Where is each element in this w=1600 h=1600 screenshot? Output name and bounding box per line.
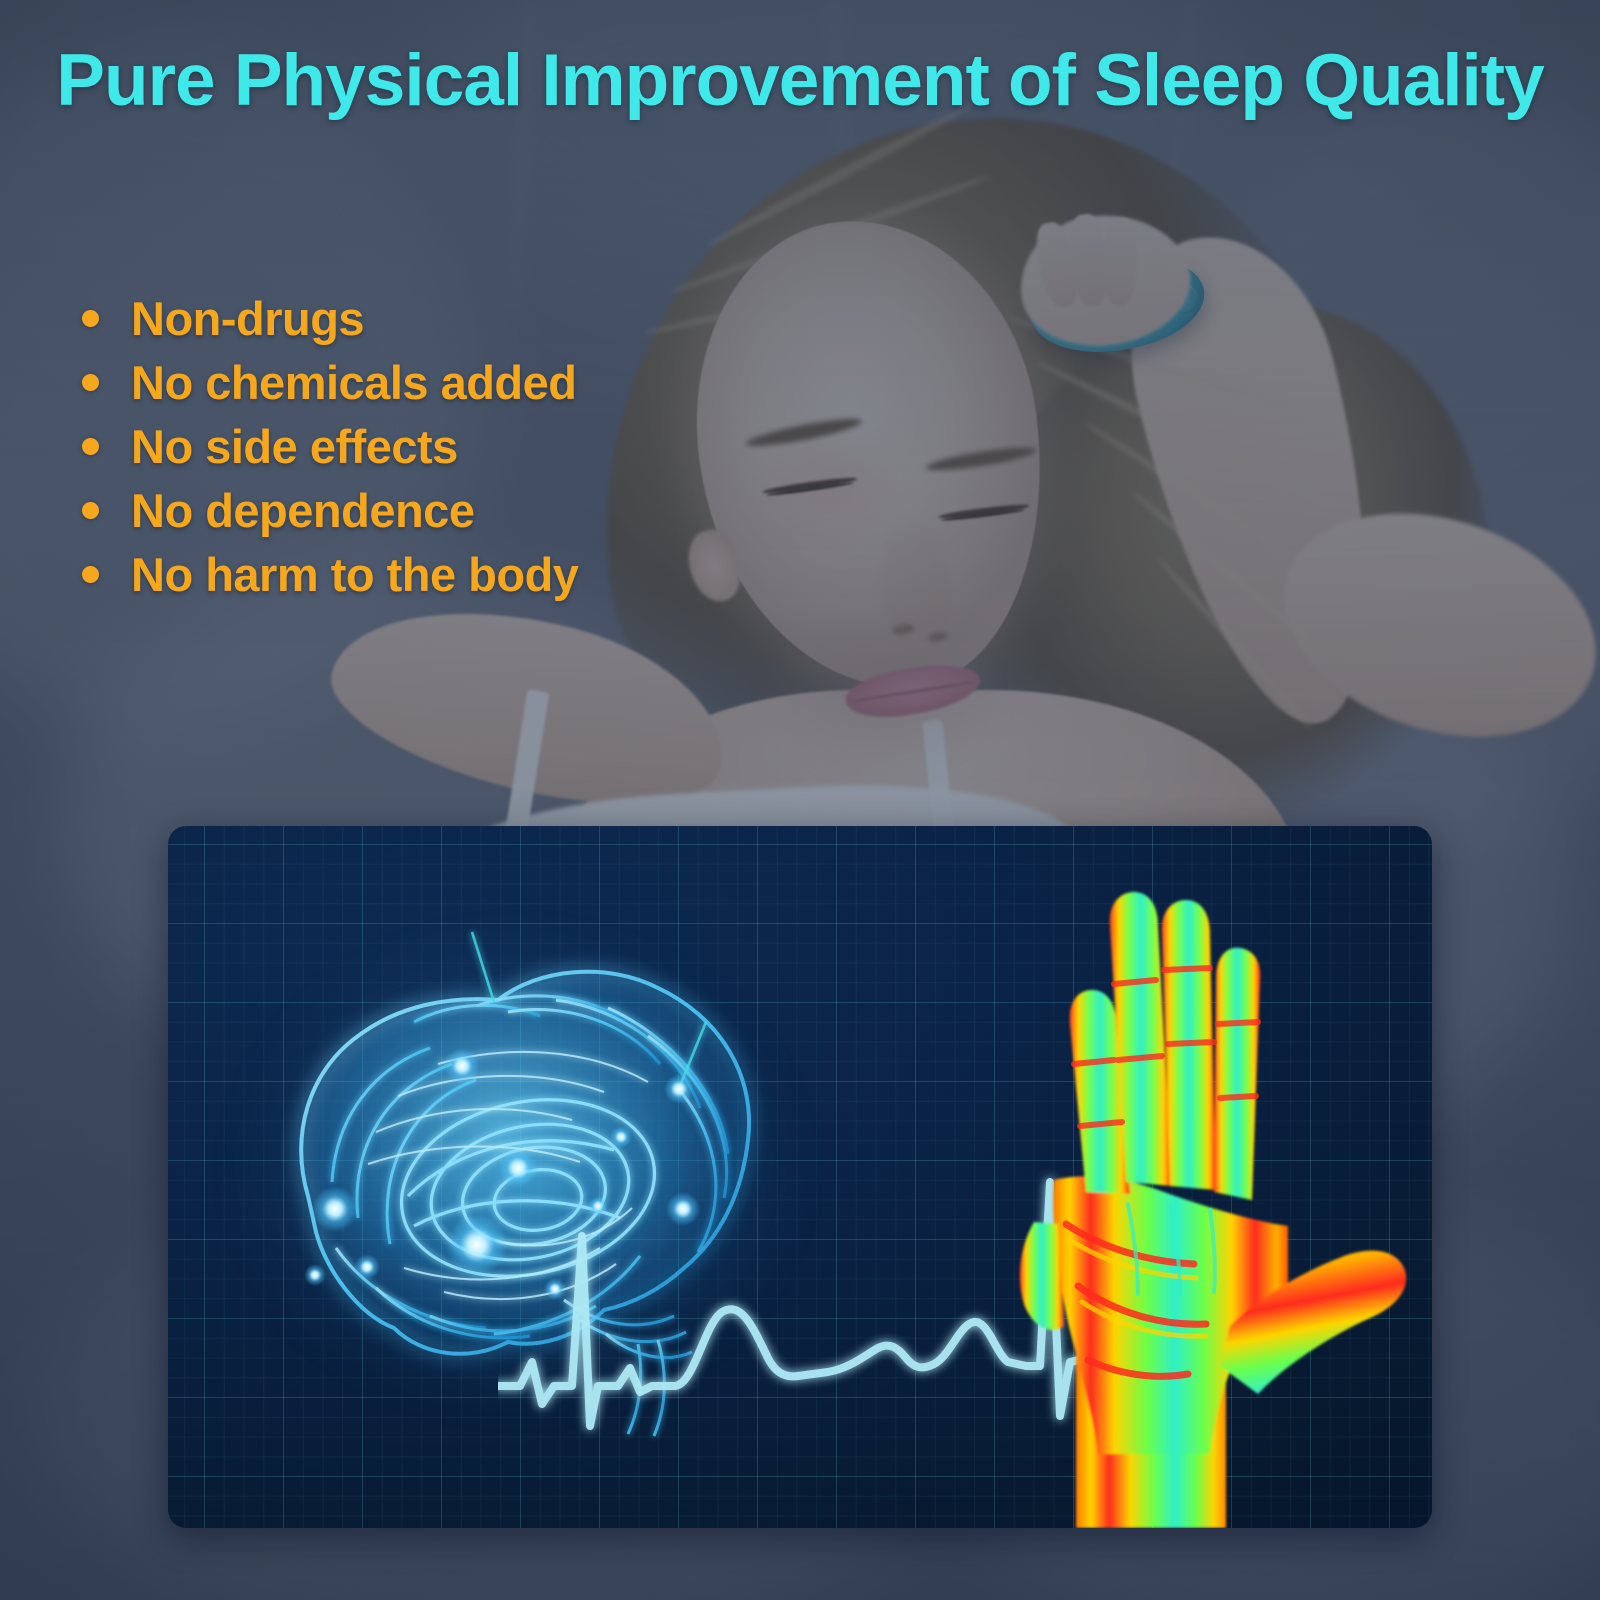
benefit-label: No dependence bbox=[131, 483, 474, 538]
bullet-dot-icon bbox=[82, 502, 99, 519]
benefit-label: Non-drugs bbox=[131, 291, 364, 346]
benefit-label: No chemicals added bbox=[131, 355, 577, 410]
brain-node bbox=[312, 1186, 358, 1232]
list-item: No harm to the body bbox=[82, 542, 782, 606]
brain-node bbox=[354, 1254, 380, 1280]
bullet-dot-icon bbox=[82, 566, 99, 583]
benefits-list: Non-drugs No chemicals added No side eff… bbox=[82, 286, 782, 606]
poster-root: Pure Physical Improvement of Sleep Quali… bbox=[0, 0, 1600, 1600]
list-item: No dependence bbox=[82, 478, 782, 542]
benefit-label: No harm to the body bbox=[131, 547, 578, 602]
bullet-dot-icon bbox=[82, 438, 99, 455]
list-item: No side effects bbox=[82, 414, 782, 478]
page-title: Pure Physical Improvement of Sleep Quali… bbox=[0, 44, 1600, 117]
brain-node bbox=[444, 1048, 480, 1084]
list-item: No chemicals added bbox=[82, 350, 782, 414]
brain-ecg-thermal-panel bbox=[168, 826, 1432, 1528]
bullet-dot-icon bbox=[82, 310, 99, 327]
thermal-hand-graphic bbox=[958, 874, 1418, 1528]
benefit-label: No side effects bbox=[131, 419, 458, 474]
brain-node bbox=[304, 1264, 326, 1286]
list-item: Non-drugs bbox=[82, 286, 782, 350]
bullet-dot-icon bbox=[82, 374, 99, 391]
